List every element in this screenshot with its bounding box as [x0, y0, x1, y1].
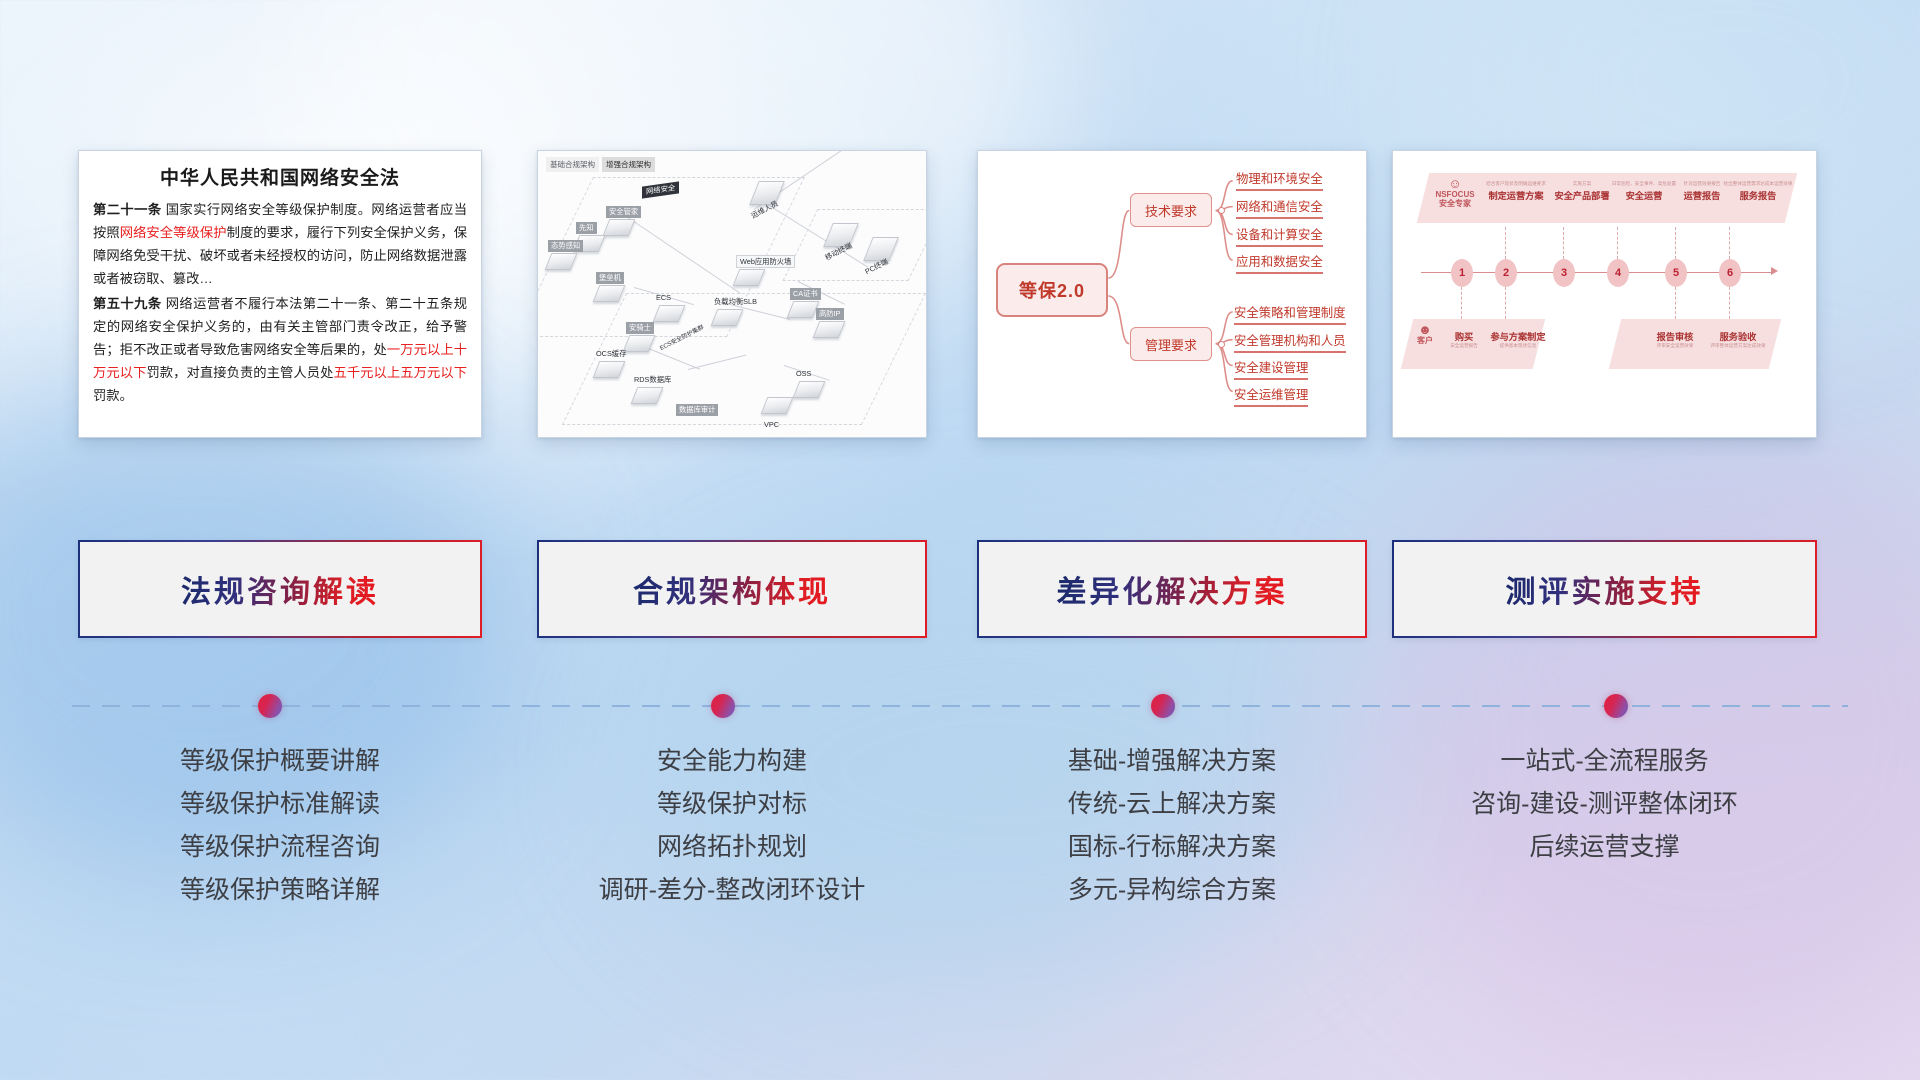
expert-icon: ☺: [1427, 177, 1483, 190]
list-item: 安全能力构建: [537, 740, 927, 783]
detail-list-compliance-architecture: 安全能力构建 等级保护对标 网络拓扑规划 调研-差分-整改闭环设计: [537, 740, 927, 912]
mindmap-leaf-org-personnel: 安全管理机构和人员: [1234, 331, 1346, 353]
architecture-node-label: RDS数据库: [634, 375, 671, 384]
service-process-card: ☺ NSFOCUS安全专家 结合客户现状及明确运维要求 制定运营方案 实施方案 …: [1392, 150, 1817, 438]
timeline-dot-2[interactable]: [711, 694, 735, 718]
title-plaque-row: 法规咨询解读 合规架构体现 差异化解决方案 测评实施支持: [0, 540, 1920, 650]
process-customer-step-1: 购买 安全运营报告: [1437, 327, 1491, 348]
process-step-1: 结合客户现状及明确运维要求 制定运营方案: [1479, 181, 1553, 202]
detail-list-row: 等级保护概要讲解 等级保护标准解读 等级保护流程咨询 等级保护策略详解 安全能力…: [0, 740, 1920, 960]
architecture-node-label: 安骑士: [626, 322, 654, 334]
process-node-1: 1: [1451, 259, 1473, 287]
timeline-dot-3[interactable]: [1151, 694, 1175, 718]
list-item: 一站式-全流程服务: [1392, 740, 1817, 783]
architecture-node-anti-ddos-ip: 高防IP: [816, 303, 844, 338]
server-icon: [545, 253, 578, 270]
architecture-tab-enhanced[interactable]: 增强合规架构: [602, 157, 655, 172]
timeline-dot-1[interactable]: [258, 694, 282, 718]
architecture-node-label: 负载均衡SLB: [714, 297, 757, 306]
pc-icon: [863, 237, 899, 261]
architecture-diagram-card: 基础合规架构 增强合规架构 网络安全: [537, 150, 927, 438]
mindmap-root-node: 等保2.0: [996, 263, 1108, 317]
architecture-node-pc-terminal: PC终端: [868, 237, 894, 279]
process-node-3: 3: [1553, 259, 1575, 287]
process-step-main: 服务报告: [1721, 188, 1795, 202]
list-item: 基础-增强解决方案: [977, 740, 1367, 783]
firewall-icon: [733, 269, 766, 286]
architecture-node-bastion-host: 堡垒机: [596, 267, 624, 302]
architecture-node-label: 先知: [576, 222, 597, 234]
process-step-sub: 评审整体运营方案达成效果: [1703, 343, 1773, 348]
plaque-label: 测评实施支持: [1506, 567, 1704, 611]
architecture-node-label: 网络安全: [642, 181, 679, 198]
agent-icon: [623, 335, 656, 352]
list-item: 调研-差分-整改闭环设计: [537, 869, 927, 912]
process-axis-arrow-icon: [1771, 267, 1778, 275]
process-canvas: ☺ NSFOCUS安全专家 结合客户现状及明确运维要求 制定运营方案 实施方案 …: [1393, 151, 1816, 437]
database-icon: [631, 387, 664, 404]
process-step-main: 服务验收: [1703, 329, 1773, 343]
architecture-node-situational-awareness: 态势感知: [548, 235, 583, 270]
process-step-sub: 结合客户现状及明确运维要求: [1479, 181, 1553, 186]
list-item: 等级保护策略详解: [78, 869, 482, 912]
architecture-node-waf: Web应用防火墙: [736, 251, 795, 286]
architecture-node-label: 堡垒机: [596, 272, 624, 284]
law-article-21-label: 第二十一条: [93, 202, 162, 217]
timeline-dot-4[interactable]: [1604, 694, 1628, 718]
architecture-canvas: 基础合规架构 增强合规架构 网络安全: [538, 151, 926, 437]
law-title: 中华人民共和国网络安全法: [93, 163, 467, 190]
process-node-4: 4: [1607, 259, 1629, 287]
list-item: 后续运营支撑: [1392, 826, 1817, 869]
law-article-59-text-c: 罚款。: [93, 388, 133, 403]
process-dash-5: [1675, 227, 1676, 259]
plaque-differentiated-solution[interactable]: 差异化解决方案: [977, 540, 1367, 638]
process-dash-2-down: [1505, 287, 1506, 319]
mindmap-card: 等保2.0 技术要求 物理和环境安全 网络和通信安全 设备和计算安全 应用和数据…: [977, 150, 1367, 438]
architecture-node-label: Web应用防火墙: [736, 255, 795, 268]
architecture-node-ecs: ECS: [656, 287, 682, 322]
architecture-node-db-audit: 数据库审计: [676, 399, 718, 417]
vpc-icon: [761, 397, 794, 414]
list-item: 多元-异构综合方案: [977, 869, 1367, 912]
law-article-59-label: 第五十九条: [93, 296, 162, 311]
process-role-expert-label: NSFOCUS安全专家: [1427, 190, 1483, 208]
architecture-node-label: 数据库审计: [676, 404, 718, 416]
architecture-tab-group[interactable]: 基础合规架构 增强合规架构: [546, 157, 655, 172]
process-step-sub: 提供基本现状信息: [1487, 343, 1549, 348]
process-node-5: 5: [1665, 259, 1687, 287]
detail-list-assessment-support: 一站式-全流程服务 咨询-建设-测评整体闭环 后续运营支撑: [1392, 740, 1817, 869]
shield-icon: [813, 321, 846, 338]
architecture-tab-basic[interactable]: 基础合规架构: [546, 157, 599, 172]
law-article-59-text-b: 罚款，对直接负责的主管人员处: [146, 365, 333, 380]
process-step-sub: 给出整体运营需求达成本运营效果: [1721, 181, 1795, 186]
mobile-icon: [823, 223, 859, 247]
list-item: 咨询-建设-测评整体闭环: [1392, 783, 1817, 826]
plaque-label: 合规架构体现: [633, 567, 831, 611]
law-text-card: 中华人民共和国网络安全法 第二十一条 国家实行网络安全等级保护制度。网络运营者应…: [78, 150, 482, 438]
architecture-node-security-butler: 安全管家: [606, 201, 641, 236]
architecture-node-label: 安全管家: [606, 206, 641, 218]
architecture-node-network-security: 网络安全: [642, 179, 679, 197]
architecture-node-anqishi: 安骑士: [626, 317, 654, 352]
architecture-node-ecs-cluster: ECS安全防护集群: [662, 337, 710, 355]
timeline: [0, 694, 1920, 718]
detail-list-regulation-consulting: 等级保护概要讲解 等级保护标准解读 等级保护流程咨询 等级保护策略详解: [78, 740, 482, 912]
list-item: 等级保护对标: [537, 783, 927, 826]
process-dash-5-down: [1675, 287, 1676, 319]
mindmap-branch-management: 管理要求: [1130, 327, 1212, 361]
mindmap-branch-dot-management: [1218, 341, 1225, 348]
list-item: 等级保护标准解读: [78, 783, 482, 826]
mindmap-leaf-operations: 安全运维管理: [1234, 385, 1308, 407]
mindmap-leaf-construction: 安全建设管理: [1234, 358, 1308, 380]
process-step-main: 报告审核: [1643, 329, 1707, 343]
plaque-label: 法规咨询解读: [181, 567, 379, 611]
detail-list-differentiated-solution: 基础-增强解决方案 传统-云上解决方案 国标-行标解决方案 多元-异构综合方案: [977, 740, 1367, 912]
law-article-21: 第二十一条 国家实行网络安全等级保护制度。网络运营者应当按照网络安全等级保护制度…: [93, 199, 467, 290]
process-customer-step-2: 参与方案制定 提供基本现状信息: [1487, 327, 1549, 348]
process-customer-step-3: 报告审核 评审安全运营效果: [1643, 327, 1707, 348]
architecture-node-label: VPC: [764, 420, 779, 429]
process-dash-3: [1563, 227, 1564, 259]
plaque-compliance-architecture[interactable]: 合规架构体现: [537, 540, 927, 638]
architecture-node-ops-person: 运维人员: [754, 181, 783, 223]
architecture-node-label: CA证书: [790, 288, 821, 300]
slide-stage: 中华人民共和国网络安全法 第二十一条 国家实行网络安全等级保护制度。网络运营者应…: [0, 0, 1920, 1080]
timeline-dashed-line: [72, 705, 1848, 707]
architecture-node-slb: 负载均衡SLB: [714, 291, 757, 326]
user-terminal-icon: [749, 181, 785, 205]
process-dash-1-down: [1461, 287, 1462, 319]
list-item: 网络拓扑规划: [537, 826, 927, 869]
architecture-node-oss: OSS: [796, 363, 822, 398]
server-icon: [653, 305, 686, 322]
plaque-label: 差异化解决方案: [1057, 567, 1288, 611]
architecture-node-mobile-terminal: 移动终端: [828, 223, 857, 265]
process-step-sub: 评审安全运营效果: [1643, 343, 1707, 348]
mindmap-canvas: 等保2.0 技术要求 物理和环境安全 网络和通信安全 设备和计算安全 应用和数据…: [978, 151, 1366, 437]
plaque-regulation-consulting[interactable]: 法规咨询解读: [78, 540, 482, 638]
law-body: 中华人民共和国网络安全法 第二十一条 国家实行网络安全等级保护制度。网络运营者应…: [79, 151, 481, 416]
architecture-node-label: 高防IP: [816, 308, 844, 320]
process-step-main: 制定运营方案: [1479, 188, 1553, 202]
load-balancer-icon: [711, 309, 744, 326]
list-item: 传统-云上解决方案: [977, 783, 1367, 826]
process-node-6: 6: [1719, 259, 1741, 287]
process-dash-4: [1617, 227, 1618, 259]
cache-icon: [593, 361, 626, 378]
process-dash-6: [1729, 227, 1730, 259]
mindmap-branch-technical: 技术要求: [1130, 193, 1212, 227]
architecture-node-label: ECS: [656, 293, 671, 302]
list-item: 国标-行标解决方案: [977, 826, 1367, 869]
plaque-assessment-support[interactable]: 测评实施支持: [1392, 540, 1817, 638]
storage-icon: [793, 381, 826, 398]
architecture-node-label: OCS缓存: [596, 349, 626, 358]
mindmap-leaf-device-compute: 设备和计算安全: [1236, 225, 1323, 247]
architecture-node-label: OSS: [796, 369, 811, 378]
process-dash-2: [1505, 227, 1506, 259]
architecture-node-vpc: VPC: [764, 397, 790, 432]
process-dash-6-down: [1729, 287, 1730, 319]
mindmap-leaf-network-comm: 网络和通信安全: [1236, 197, 1323, 219]
architecture-node-label: 态势感知: [548, 240, 583, 252]
mindmap-leaf-app-data: 应用和数据安全: [1236, 252, 1323, 274]
mindmap-leaf-policy-system: 安全策略和管理制度: [1234, 303, 1346, 325]
mindmap-leaf-physical-env: 物理和环境安全: [1236, 169, 1323, 191]
law-article-59-highlight-2: 五千元以上五万元以下: [333, 365, 467, 380]
list-item: 等级保护流程咨询: [78, 826, 482, 869]
mindmap-branch-dot-technical: [1218, 207, 1225, 214]
process-step-sub: 安全运营报告: [1437, 343, 1491, 348]
media-card-row: 中华人民共和国网络安全法 第二十一条 国家实行网络安全等级保护制度。网络运营者应…: [0, 150, 1920, 440]
law-article-59: 第五十九条 网络运营者不履行本法第二十一条、第二十五条规定的网络安全保护义务的，…: [93, 293, 467, 407]
process-customer-step-4: 服务验收 评审整体运营方案达成效果: [1703, 327, 1773, 348]
server-icon: [593, 285, 626, 302]
list-item: 等级保护概要讲解: [78, 740, 482, 783]
law-article-21-highlight: 网络安全等级保护: [120, 225, 227, 240]
process-step-5: 给出整体运营需求达成本运营效果 服务报告: [1721, 181, 1795, 202]
process-role-expert: ☺ NSFOCUS安全专家: [1427, 177, 1483, 208]
process-node-2: 2: [1495, 259, 1517, 287]
certificate-icon: [787, 301, 820, 318]
architecture-node-ocs-cache: OCS缓存: [596, 343, 626, 378]
architecture-node-rds: RDS数据库: [634, 369, 671, 404]
process-step-main: 参与方案制定: [1487, 329, 1549, 343]
process-step-main: 购买: [1437, 329, 1491, 343]
server-icon: [603, 219, 636, 236]
